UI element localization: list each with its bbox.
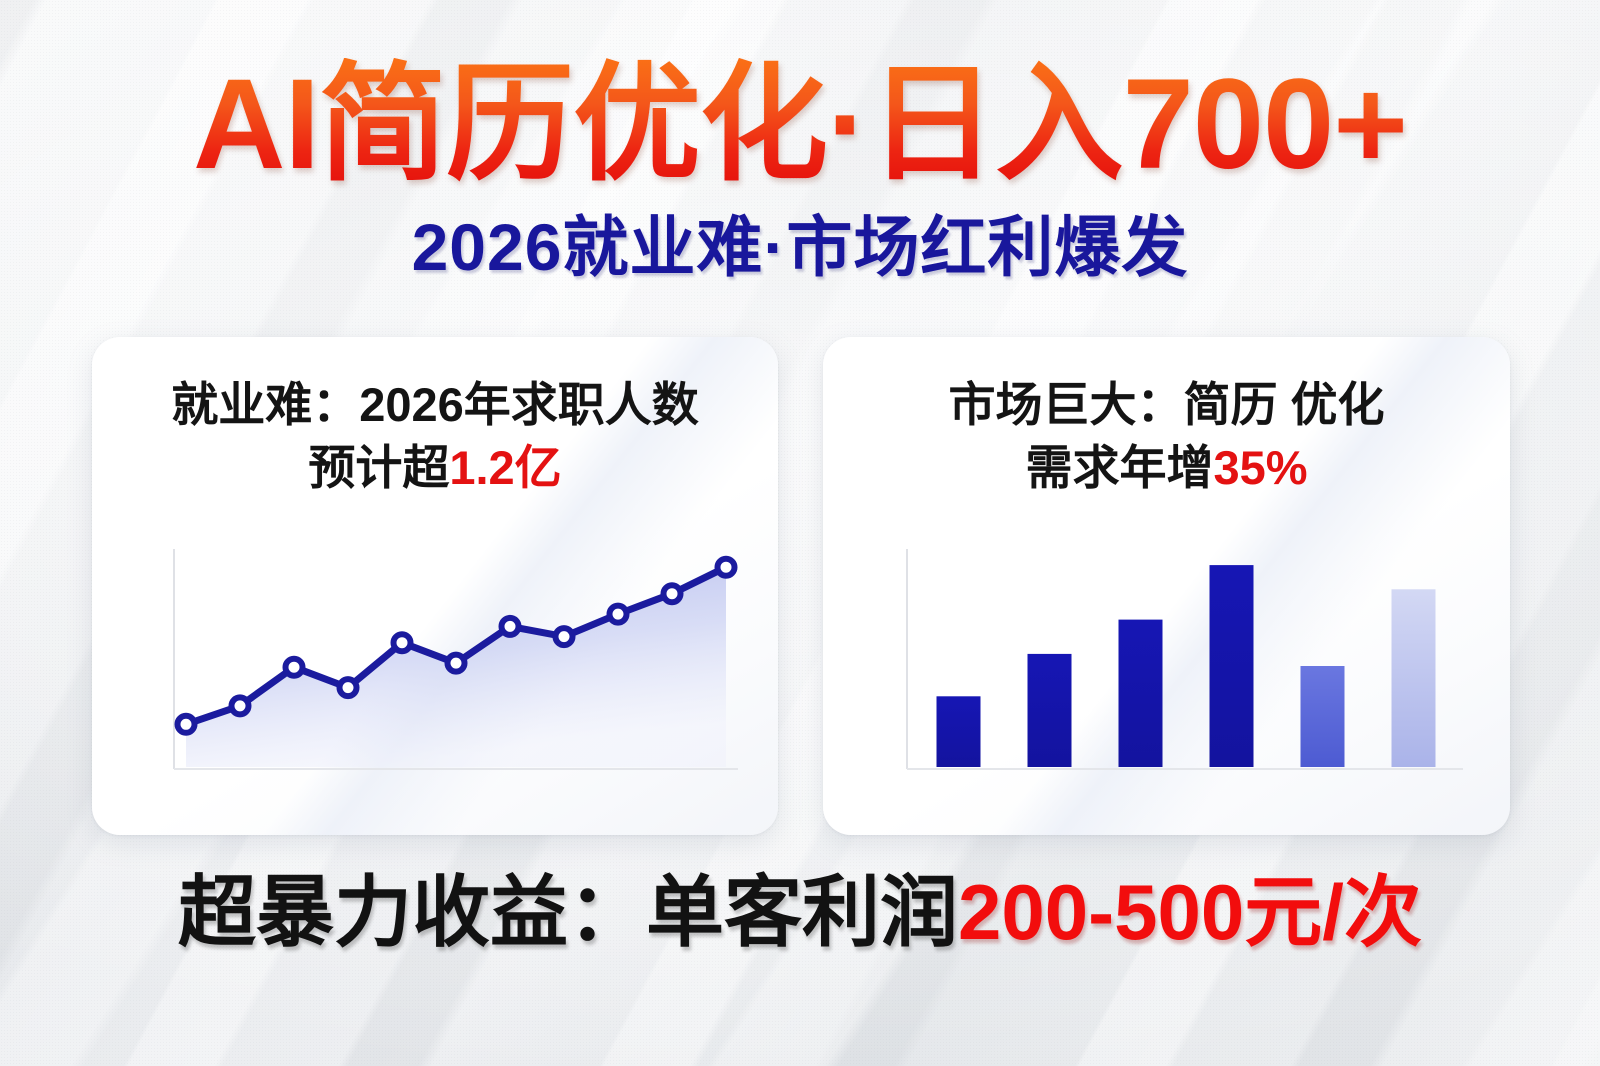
bar-chart-container [823, 533, 1510, 793]
line-chart-marker [448, 655, 465, 672]
bar-chart-bar [1119, 620, 1163, 767]
card-right-title-prefix: 需求年增 [1025, 441, 1213, 494]
card-left-title-highlight: 1.2亿 [449, 441, 561, 494]
footer-amount: 200-500元/次 [958, 868, 1422, 956]
line-chart-marker [718, 559, 735, 576]
bar-chart-bar [1210, 565, 1254, 767]
card-left-title-prefix: 预计超 [308, 441, 449, 494]
line-chart-marker [232, 697, 249, 714]
line-chart-marker [556, 628, 573, 645]
poster-canvas: AI简历优化·日入700+ 2026就业难·市场红利爆发 就业难：2026年求职… [0, 0, 1600, 1066]
line-chart [92, 533, 778, 793]
line-chart-marker [178, 716, 195, 733]
card-left-title-line1: 就业难：2026年求职人数 [171, 378, 699, 431]
line-chart-marker [340, 679, 357, 696]
bar-chart-bar [937, 696, 981, 767]
bar-chart-bars [937, 565, 1436, 767]
bar-chart-bar [1028, 654, 1072, 767]
card-left-title-line2: 预计超1.2亿 [92, 436, 778, 499]
subheadline: 2026就业难·市场红利爆发 [0, 213, 1600, 282]
card-right-title: 市场巨大：简历 优化 需求年增35% [823, 373, 1510, 500]
bar-chart-bar [1301, 666, 1345, 767]
card-right-title-highlight: 35% [1213, 441, 1307, 494]
line-chart-marker [502, 618, 519, 635]
card-left-title: 就业难：2026年求职人数 预计超1.2亿 [92, 373, 778, 500]
line-chart-marker [664, 585, 681, 602]
headline: AI简历优化·日入700+ [0, 58, 1600, 192]
stat-card-market: 市场巨大：简历 优化 需求年增35% [823, 337, 1510, 835]
card-right-title-line1: 市场巨大：简历 优化 [948, 378, 1384, 431]
line-chart-marker [286, 659, 303, 676]
stat-card-employment: 就业难：2026年求职人数 预计超1.2亿 [92, 337, 778, 835]
line-chart-marker [610, 606, 627, 623]
footer-label: 超暴力收益：单客利润 [178, 868, 958, 956]
line-chart-container [92, 533, 778, 793]
card-right-title-line2: 需求年增35% [823, 436, 1510, 499]
bar-chart-bar [1392, 589, 1436, 767]
bar-chart [823, 533, 1510, 793]
footer-banner: 超暴力收益：单客利润200-500元/次 [0, 872, 1600, 954]
line-chart-marker [394, 634, 411, 651]
